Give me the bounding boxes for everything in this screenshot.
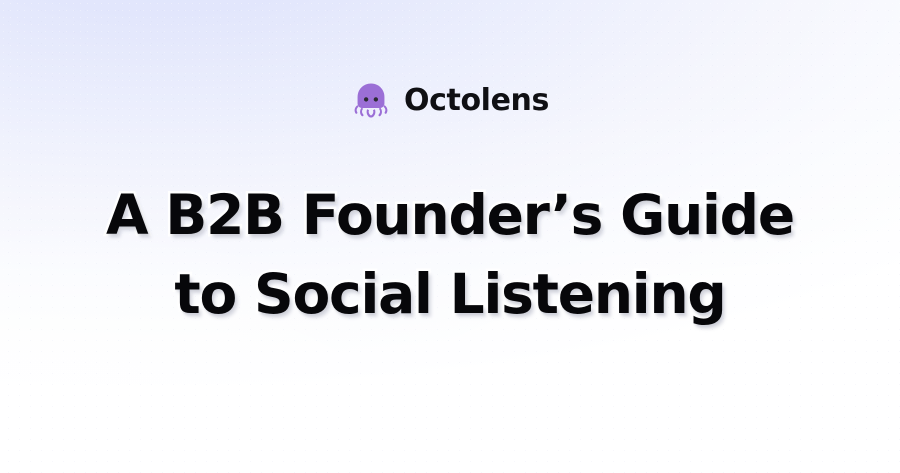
page-title: A B2B Founder’s Guide to Social Listenin…	[40, 176, 860, 333]
page-title-line-2: to Social Listening	[40, 255, 860, 334]
page-title-line-1: A B2B Founder’s Guide	[40, 176, 860, 255]
brand-lockup: Octolens	[351, 78, 549, 124]
brand-name: Octolens	[404, 86, 549, 116]
octopus-icon	[351, 81, 391, 121]
og-share-card: Octolens A B2B Founder’s Guide to Social…	[0, 0, 900, 473]
